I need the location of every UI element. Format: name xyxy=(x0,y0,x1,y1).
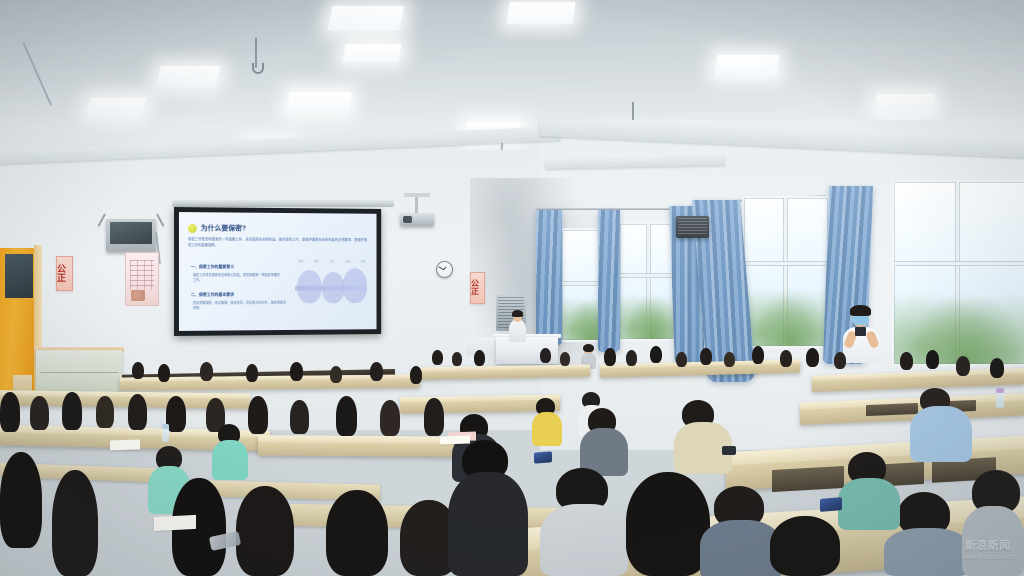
student-hair xyxy=(128,394,147,430)
wall-mounted-tv xyxy=(106,219,156,252)
lecturer-hair xyxy=(512,310,523,317)
student-hair xyxy=(380,400,400,436)
watermark-text: 新浪新闻 xyxy=(965,540,1011,552)
phone-screen xyxy=(820,497,842,512)
student-hair xyxy=(626,472,710,576)
water-bottle xyxy=(162,424,169,442)
student-hair xyxy=(132,362,144,379)
cabinet-seam xyxy=(40,372,118,373)
ceiling-light xyxy=(156,66,221,86)
window-curtain[interactable] xyxy=(598,210,620,352)
student-hair xyxy=(236,486,294,576)
slide-section-one-body: 保密工作事关国家安全和核心利益，是党和国家一项极其重要的工作。 xyxy=(193,273,281,283)
student-hair xyxy=(62,392,82,430)
student-hair xyxy=(650,346,662,363)
face-mask-icon xyxy=(852,316,869,325)
student-hair xyxy=(604,348,616,366)
speaker-grill xyxy=(678,218,707,236)
student-body xyxy=(540,504,628,576)
student-hair xyxy=(806,348,819,367)
student-hair xyxy=(626,350,637,366)
student-hair xyxy=(158,364,170,382)
watermark: 新浪新闻 news.sina.com.cn xyxy=(962,540,1015,564)
chart-cols xyxy=(130,260,154,290)
student-hair xyxy=(0,392,20,432)
desk-cubby xyxy=(866,403,918,416)
ceiling-light xyxy=(715,55,779,77)
student-hair xyxy=(990,358,1004,378)
student-hair xyxy=(676,352,687,367)
student-body xyxy=(212,440,248,480)
bottle-cap xyxy=(162,424,169,429)
person-hair xyxy=(583,344,594,352)
poster-text: 公正 xyxy=(57,265,72,283)
ceiling-light xyxy=(286,92,351,113)
window-3 xyxy=(742,196,830,348)
slide-diagram: 国家 秘密 安全 利益 责任 xyxy=(293,260,371,309)
student-hair xyxy=(432,350,443,365)
ceiling-light xyxy=(342,44,401,62)
window-curtain[interactable] xyxy=(536,210,562,345)
diagram-label: 利益 xyxy=(345,259,350,263)
diagram-label: 秘密 xyxy=(314,259,319,263)
held-phone xyxy=(855,327,866,336)
slide-diagram-labels: 国家 秘密 安全 利益 责任 xyxy=(293,259,371,263)
poster-gongzheng-center: 公正 xyxy=(470,272,485,304)
window-mullion xyxy=(620,274,678,277)
photographer-hair xyxy=(850,305,871,316)
phone-screen xyxy=(722,446,736,455)
student-hair xyxy=(452,352,462,366)
window-mullion xyxy=(744,262,828,265)
classroom-door[interactable] xyxy=(0,248,38,393)
student-hair xyxy=(96,396,114,428)
lecturer-body xyxy=(509,320,526,342)
paper-sheet xyxy=(440,435,470,444)
watermark-subtext: news.sina.com.cn xyxy=(962,552,1015,564)
student-hair xyxy=(248,396,268,434)
ceiling-projector xyxy=(400,213,434,226)
window-foliage xyxy=(620,286,678,339)
student-hair xyxy=(0,452,42,548)
paper-sheet xyxy=(110,439,140,450)
poster-text: 公正 xyxy=(471,280,484,296)
projector-ceiling-plate xyxy=(404,193,430,197)
student-hair xyxy=(246,364,258,382)
phone-screen xyxy=(534,451,552,463)
slide-title: 为什么要保密? xyxy=(201,223,246,233)
student-hair xyxy=(926,350,939,369)
student-hair xyxy=(724,352,735,367)
diagram-arrow-bar xyxy=(295,286,367,291)
student-body xyxy=(532,412,562,446)
door-window-glass xyxy=(3,252,35,300)
student-hair xyxy=(330,366,342,383)
student-hair xyxy=(956,356,970,376)
student-hair xyxy=(30,396,49,430)
student-hair xyxy=(700,348,712,365)
diagram-label: 安全 xyxy=(330,259,335,263)
student-hair xyxy=(200,362,213,381)
student-body xyxy=(448,472,528,576)
student-hair xyxy=(410,366,422,384)
student-body xyxy=(838,478,900,530)
projection-screen: 为什么要保密? 保密工作是党和国家的一项重要工作，关系国家安全和利益。做好保密工… xyxy=(174,207,381,336)
poster-gongzheng-left: 公正 xyxy=(56,256,73,291)
student-hair xyxy=(560,352,570,366)
student-hair xyxy=(370,362,383,381)
student-hair xyxy=(900,352,913,370)
chart-photo xyxy=(131,290,145,301)
projector-lens xyxy=(403,216,412,223)
standing-person-with-phone xyxy=(840,305,882,363)
clock-hour-hand xyxy=(443,266,447,270)
student-hair xyxy=(326,490,388,576)
diagram-label: 责任 xyxy=(361,259,366,263)
student-body xyxy=(910,406,972,462)
slide-section-two-heading: 二、保密工作的基本要求 xyxy=(191,292,234,298)
student-hair xyxy=(290,400,309,434)
student-hair xyxy=(752,346,764,364)
student-hair xyxy=(336,396,357,436)
slide-paragraph: 保密工作是党和国家的一项重要工作，关系国家安全和利益。做好保密工作，是维护国家安… xyxy=(188,237,367,249)
tv-screen xyxy=(110,222,152,244)
student-hair xyxy=(540,348,551,363)
desk-front xyxy=(258,442,458,457)
yellow-dot-icon xyxy=(188,224,197,233)
student-hair xyxy=(770,516,840,576)
ceiling-light xyxy=(86,98,147,116)
student-hair xyxy=(52,470,98,576)
student-hair xyxy=(474,350,485,366)
screen-roller-housing xyxy=(172,200,394,207)
desk-cubby xyxy=(772,466,844,492)
slide-section-one-heading: 一、保密工作的重要意义 xyxy=(191,264,234,270)
student-body xyxy=(884,528,970,576)
schedule-chart-poster xyxy=(125,252,159,306)
ceiling-speaker-unit xyxy=(676,216,709,238)
clock-minute-hand xyxy=(439,266,444,270)
water-bottle xyxy=(996,388,1004,408)
desk-row-near-2 xyxy=(258,435,458,456)
window-foliage xyxy=(894,280,1024,364)
window-4 xyxy=(892,180,1024,366)
student-hair xyxy=(424,398,444,436)
window-mullion xyxy=(894,262,1024,265)
ceiling-light xyxy=(327,6,404,30)
ceiling-light xyxy=(875,94,935,114)
slide-section-two-body: 坚持党管保密、依法管理、综合防范、突出重点的方针，落实保密责任制。 xyxy=(193,301,287,311)
bottle-cap xyxy=(996,388,1004,393)
student-hair xyxy=(290,362,303,381)
student-hair xyxy=(834,352,846,369)
ceiling-light xyxy=(506,2,575,24)
paper-sheet xyxy=(154,515,196,531)
ceiling-hook xyxy=(255,38,257,68)
screen-surface: 为什么要保密? 保密工作是党和国家的一项重要工作，关系国家安全和利益。做好保密工… xyxy=(179,212,377,331)
window-foliage xyxy=(744,278,828,346)
wall-clock xyxy=(436,261,453,278)
student-hair xyxy=(780,350,792,367)
student-hair xyxy=(166,396,186,432)
projector-mount-pole xyxy=(415,196,418,214)
diagram-label: 国家 xyxy=(299,259,304,263)
lecture-hall-photo: 公正 公正 求实 为什么要保密? 保密工作是党和国家的一项重要工作，关系国家安全… xyxy=(0,0,1024,576)
